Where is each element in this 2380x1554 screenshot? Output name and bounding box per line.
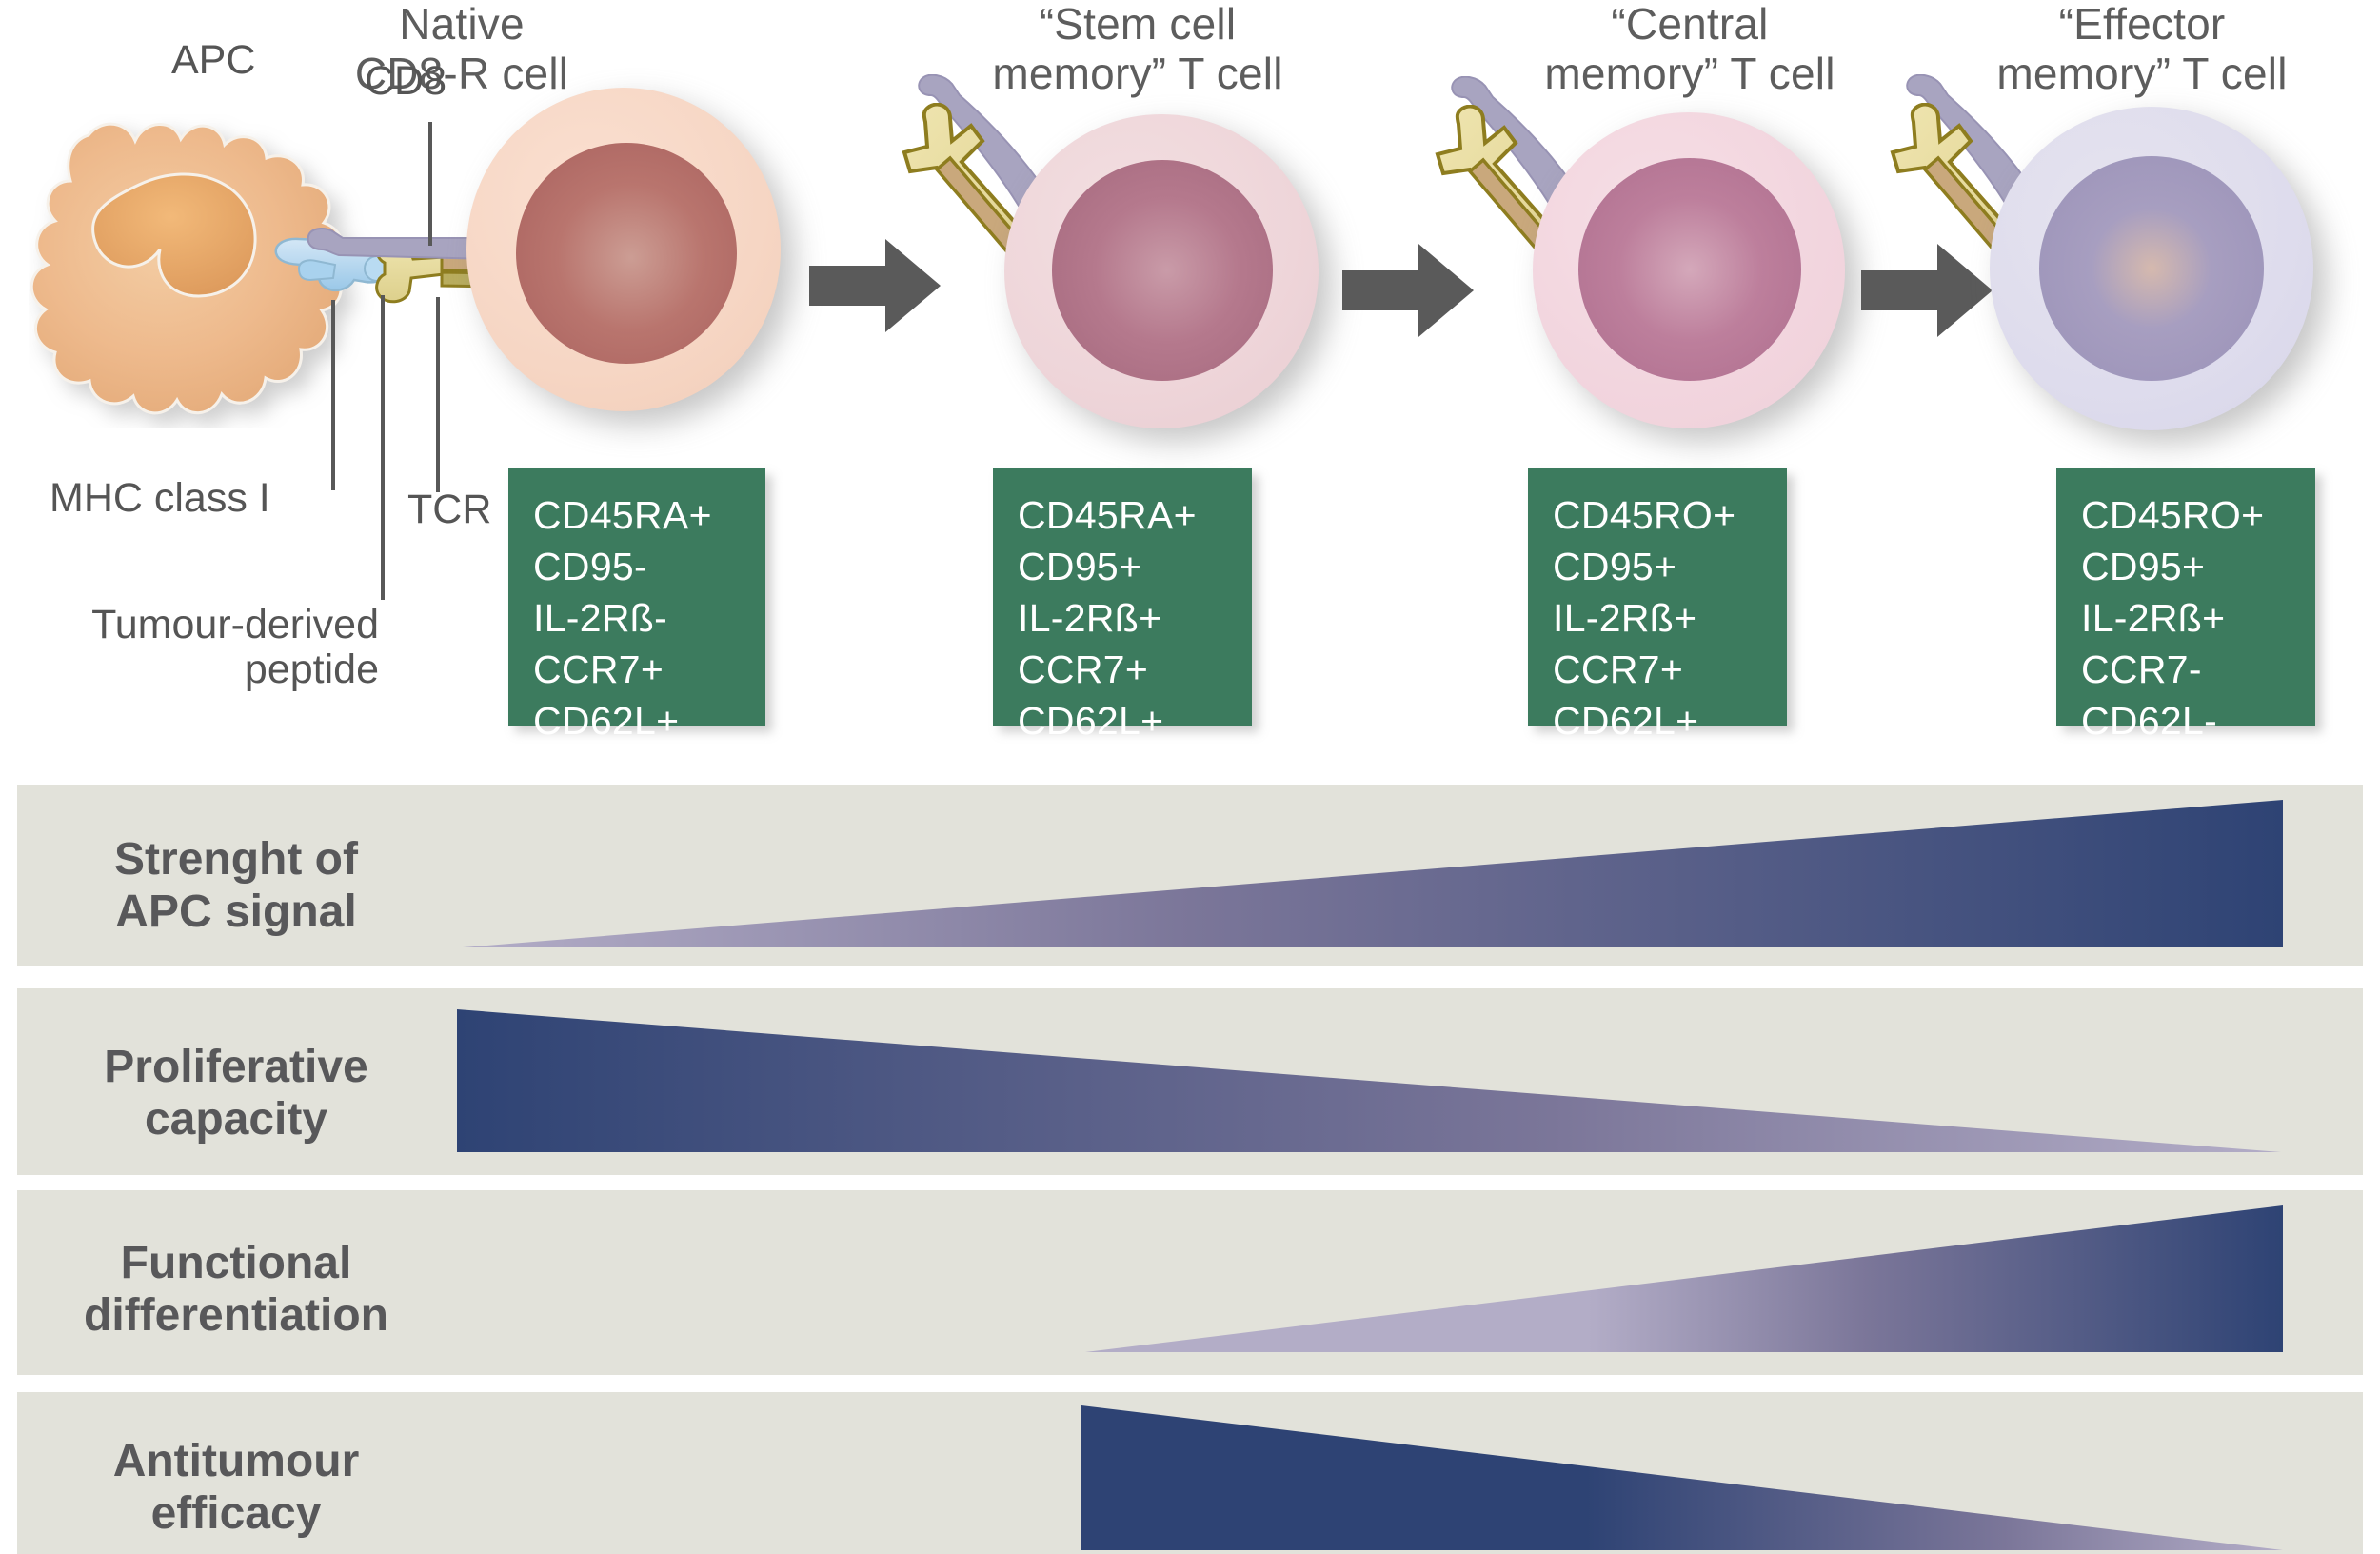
- cell-nucleus: [1578, 158, 1801, 381]
- diagram-canvas: Native CD8-R cell “Stem cell memory” T c…: [0, 0, 2380, 1554]
- cell-stem-cell-memory: [1004, 114, 1319, 428]
- column-title-stem-cell-memory: “Stem cell memory” T cell: [914, 0, 1361, 98]
- apc-label: APC: [171, 38, 255, 83]
- metric-label-functional-differentiation: Functional differentiation: [69, 1238, 403, 1342]
- arrow-native-to-stem: [809, 233, 942, 338]
- cell-central-memory: [1533, 112, 1845, 428]
- marker-box-native: CD45RA+ CD95- IL-2Rß- CCR7+ CD62L+: [508, 468, 765, 726]
- metric-panel-functional-differentiation: Functional differentiation: [17, 1190, 2363, 1375]
- arrow-central-to-effector: [1861, 238, 1994, 343]
- leader-line-tcr: [436, 297, 440, 492]
- tcr-label: TCR: [407, 488, 491, 532]
- cell-effector-memory: [1990, 107, 2313, 430]
- cell-native-cd8-r: [466, 88, 781, 411]
- antigen-presenting-cell: [29, 114, 428, 428]
- leader-line-peptide: [381, 295, 385, 600]
- metric-label-apc-signal: Strenght of APC signal: [69, 834, 403, 938]
- leader-line-cd8: [428, 122, 432, 246]
- cd8-label: CD8: [365, 59, 446, 104]
- marker-box-central-memory: CD45RO+ CD95+ IL-2Rß+ CCR7+ CD62L+: [1528, 468, 1787, 726]
- metric-panel-proliferative-capacity: Proliferative capacity: [17, 988, 2363, 1175]
- metric-panel-apc-signal: Strenght of APC signal: [17, 785, 2363, 966]
- metric-label-antitumour-efficacy: Antitumour efficacy: [69, 1436, 403, 1540]
- cell-nucleus: [516, 143, 737, 364]
- column-title-effector-memory: “Effector memory” T cell: [1923, 0, 2361, 98]
- mhc-class-i-label: MHC class I: [50, 476, 270, 521]
- column-title-native: Native CD8-R cell: [257, 0, 666, 98]
- marker-box-stem-cell-memory: CD45RA+ CD95+ IL-2Rß+ CCR7+ CD62L+: [993, 468, 1252, 726]
- marker-box-effector-memory: CD45RO+ CD95+ IL-2Rß+ CCR7- CD62L-: [2056, 468, 2315, 726]
- metric-panel-antitumour-efficacy: Antitumour efficacy: [17, 1392, 2363, 1554]
- metric-label-proliferative-capacity: Proliferative capacity: [69, 1042, 403, 1146]
- column-title-central-memory: “Central memory” T cell: [1466, 0, 1914, 98]
- leader-line-mhc: [331, 300, 335, 490]
- cell-nucleus: [2039, 156, 2264, 381]
- cell-nucleus: [1052, 160, 1273, 381]
- tumour-peptide-label: Tumour-derived peptide: [17, 603, 379, 693]
- arrow-stem-to-central: [1342, 238, 1476, 343]
